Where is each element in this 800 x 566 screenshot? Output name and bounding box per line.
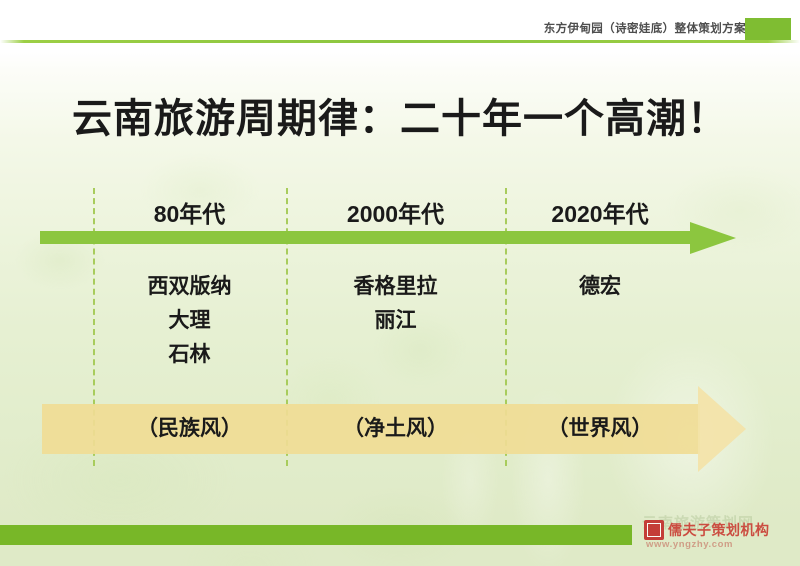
watermark: 云南旅游策划网 儒夫子策划机构 www.yngzhy.com: [640, 512, 792, 556]
watermark-brand-name: 儒夫子策划机构: [668, 520, 770, 540]
slide-canvas: 东方伊甸园（诗密娃底）整体策划方案 云南旅游周期律：二十年一个高潮！ 80年代 …: [0, 0, 800, 566]
header-accent-block: [745, 18, 791, 40]
destination-item: 西双版纳: [93, 270, 286, 304]
decade-label-1: 80年代: [93, 195, 286, 229]
header-title: 东方伊甸园（诗密娃底）整体策划方案: [544, 20, 746, 36]
footer-green-bar: [0, 525, 632, 545]
header-divider-line: [0, 40, 800, 43]
destination-item: 丽江: [286, 304, 505, 338]
destination-column-1: 西双版纳 大理 石林: [93, 270, 286, 372]
destination-item: 德宏: [505, 270, 695, 304]
timeline-arrow-head-icon: [690, 222, 736, 254]
destination-item: 香格里拉: [286, 270, 505, 304]
destination-column-3: 德宏: [505, 270, 695, 304]
decade-label-3: 2020年代: [505, 195, 695, 229]
theme-label-2: （净土风）: [286, 404, 505, 454]
theme-label-1: （民族风）: [93, 404, 286, 454]
watermark-seal-icon: [644, 520, 664, 540]
watermark-url: www.yngzhy.com: [646, 539, 733, 550]
destination-columns: 西双版纳 大理 石林 香格里拉 丽江 德宏: [0, 270, 800, 380]
decade-label-2: 2000年代: [286, 195, 505, 229]
theme-label-row: （民族风） （净土风） （世界风）: [0, 404, 800, 454]
theme-label-3: （世界风）: [505, 404, 695, 454]
watermark-seal-inner: [647, 523, 661, 537]
decade-label-row: 80年代 2000年代 2020年代: [0, 195, 800, 229]
destination-column-2: 香格里拉 丽江: [286, 270, 505, 338]
destination-item: 石林: [93, 338, 286, 372]
destination-item: 大理: [93, 304, 286, 338]
page-title: 云南旅游周期律：二十年一个高潮！: [0, 86, 800, 144]
timeline-arrow-shaft: [40, 231, 700, 244]
